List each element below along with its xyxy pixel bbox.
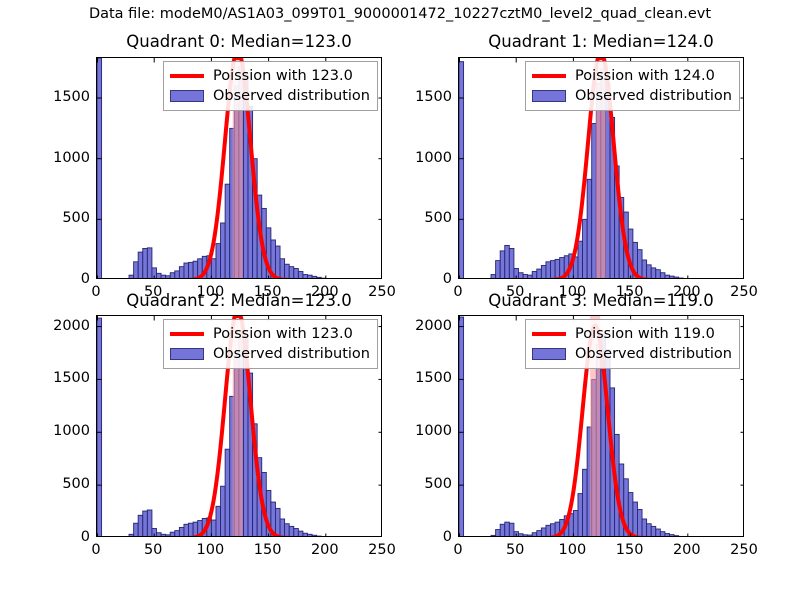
subplot-quadrant-2: Quadrant 2: Median=123.0Poission with 12… <box>96 0 382 600</box>
histogram-bar <box>496 530 501 537</box>
legend: Poission with 119.0Observed distribution <box>525 319 740 369</box>
histogram-bar <box>179 527 184 537</box>
histogram-bar <box>294 528 299 537</box>
histogram-bar <box>665 534 670 537</box>
y-tick-label: 1000 <box>38 423 90 439</box>
x-tick-label: 0 <box>453 542 462 558</box>
histogram-bar <box>221 486 226 537</box>
x-tick-label: 250 <box>368 542 396 558</box>
histogram-bar <box>583 469 588 537</box>
histogram-bar <box>308 534 313 537</box>
histogram-bar <box>509 523 514 537</box>
x-tick-label: 0 <box>91 542 100 558</box>
x-tick-label: 50 <box>144 542 162 558</box>
histogram-bar <box>184 524 189 537</box>
legend-entry: Observed distribution <box>170 344 370 364</box>
legend: Poission with 123.0Observed distribution <box>163 319 378 369</box>
y-tick-label: 500 <box>400 210 452 226</box>
histogram-bar <box>317 536 322 537</box>
histogram-bar <box>285 524 290 537</box>
y-tick-label: 1500 <box>400 370 452 386</box>
y-tick-label: 1000 <box>38 150 90 166</box>
x-tick-label: 200 <box>311 542 339 558</box>
histogram-bar <box>500 524 505 537</box>
histogram-bar <box>656 529 661 537</box>
histogram-bar <box>312 535 317 537</box>
y-tick-label: 0 <box>400 529 452 545</box>
histogram-bar <box>225 449 230 537</box>
y-tick-label: 500 <box>38 210 90 226</box>
subplot-title: Quadrant 2: Median=123.0 <box>96 291 382 310</box>
legend-entry: Poission with 119.0 <box>532 324 732 344</box>
plot-area-quadrant-3: Poission with 119.0Observed distribution <box>458 315 744 537</box>
histogram-bar <box>651 526 656 537</box>
histogram-bar <box>679 536 684 537</box>
y-tick-label: 1500 <box>38 89 90 105</box>
x-tick-label: 250 <box>730 542 758 558</box>
histogram-bar <box>289 526 294 537</box>
histogram-bar <box>97 318 102 537</box>
y-tick-label: 1000 <box>400 150 452 166</box>
y-tick-label: 2000 <box>400 318 452 334</box>
legend-label: Poission with 123.0 <box>213 326 353 342</box>
y-tick-label: 1500 <box>400 89 452 105</box>
y-tick-label: 2000 <box>38 318 90 334</box>
histogram-bar <box>143 511 148 537</box>
histogram-bar <box>129 534 134 537</box>
y-tick-label: 0 <box>400 271 452 287</box>
x-tick-label: 150 <box>616 542 644 558</box>
histogram-bar <box>578 494 583 537</box>
histogram-bar <box>275 508 280 537</box>
histogram-bar <box>156 533 161 537</box>
histogram-bar <box>532 533 537 537</box>
legend-patch-swatch-icon <box>532 346 566 362</box>
histogram-bar <box>660 532 665 537</box>
histogram-bar <box>147 510 152 537</box>
histogram-bar <box>541 528 546 537</box>
y-tick-label: 1500 <box>38 370 90 386</box>
histogram-bar <box>303 533 308 537</box>
subplot-title: Quadrant 3: Median=119.0 <box>458 291 744 310</box>
histogram-bar <box>280 519 285 537</box>
histogram-bar <box>523 535 528 537</box>
y-tick-label: 0 <box>38 529 90 545</box>
legend-entry: Poission with 123.0 <box>170 324 370 344</box>
histogram-bar <box>528 535 533 537</box>
histogram-bar <box>138 515 143 537</box>
histogram-bar <box>459 317 464 537</box>
figure-canvas: Data file: modeM0/AS1A03_099T01_90000014… <box>0 0 800 600</box>
x-tick-label: 150 <box>254 542 282 558</box>
histogram-bar <box>642 519 647 537</box>
x-tick-label: 50 <box>506 542 524 558</box>
histogram-bar <box>211 520 216 537</box>
histogram-bar <box>633 502 638 537</box>
y-tick-label: 0 <box>38 271 90 287</box>
histogram-bar <box>505 522 510 537</box>
legend-line-swatch-icon <box>532 326 566 342</box>
histogram-bar <box>546 525 551 537</box>
subplot-quadrant-3: Quadrant 3: Median=119.0Poission with 11… <box>458 0 744 600</box>
histogram-bar <box>573 511 578 537</box>
legend-patch-swatch-icon <box>170 346 204 362</box>
histogram-bar <box>161 534 166 537</box>
histogram-bar <box>637 509 642 537</box>
histogram-bar <box>518 534 523 537</box>
histogram-bar <box>537 531 542 537</box>
histogram-bar <box>166 535 171 537</box>
x-tick-label: 100 <box>559 542 587 558</box>
histogram-bar <box>298 531 303 537</box>
histogram-bar <box>670 535 675 537</box>
histogram-bar <box>647 524 652 537</box>
legend-entry: Observed distribution <box>532 344 732 364</box>
histogram-bar <box>170 532 175 537</box>
histogram-bar <box>134 523 139 537</box>
x-tick-label: 100 <box>197 542 225 558</box>
y-tick-label: 500 <box>400 476 452 492</box>
x-tick-label: 200 <box>673 542 701 558</box>
legend-label: Observed distribution <box>575 346 732 362</box>
histogram-bar <box>491 535 496 537</box>
y-tick-label: 500 <box>38 476 90 492</box>
legend-label: Observed distribution <box>213 346 370 362</box>
plot-area-quadrant-2: Poission with 123.0Observed distribution <box>96 315 382 537</box>
histogram-bar <box>216 506 221 537</box>
y-tick-label: 1000 <box>400 423 452 439</box>
histogram-bar <box>175 531 180 537</box>
histogram-bar <box>189 523 194 537</box>
histogram-bar <box>674 536 679 537</box>
legend-label: Poission with 119.0 <box>575 326 715 342</box>
legend-line-swatch-icon <box>170 326 204 342</box>
